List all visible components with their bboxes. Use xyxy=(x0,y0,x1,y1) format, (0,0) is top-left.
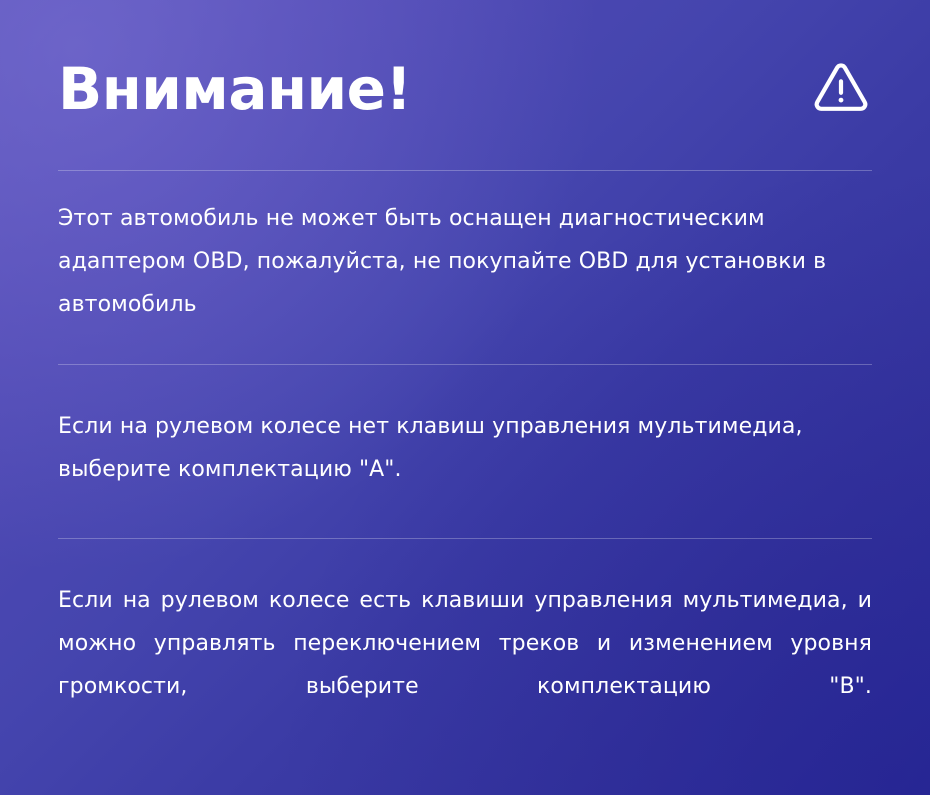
notice-header: Внимание! xyxy=(58,0,872,170)
section-text: Этот автомобиль не может быть оснащен ди… xyxy=(58,197,872,326)
notice-content: Внимание! Этот автомобиль не может быть … xyxy=(0,0,930,751)
section-text: Если на рулевом колесе нет клавиш управл… xyxy=(58,405,872,491)
section-trim-b: Если на рулевом колесе есть клавиши упра… xyxy=(58,539,872,751)
page-title: Внимание! xyxy=(58,60,411,118)
attention-notice-card: Внимание! Этот автомобиль не может быть … xyxy=(0,0,930,795)
section-text: Если на рулевом колесе есть клавиши упра… xyxy=(58,579,872,751)
section-trim-a: Если на рулевом колесе нет клавиш управл… xyxy=(58,365,872,538)
warning-triangle-icon xyxy=(813,61,872,117)
section-obd-warning: Этот автомобиль не может быть оснащен ди… xyxy=(58,171,872,364)
